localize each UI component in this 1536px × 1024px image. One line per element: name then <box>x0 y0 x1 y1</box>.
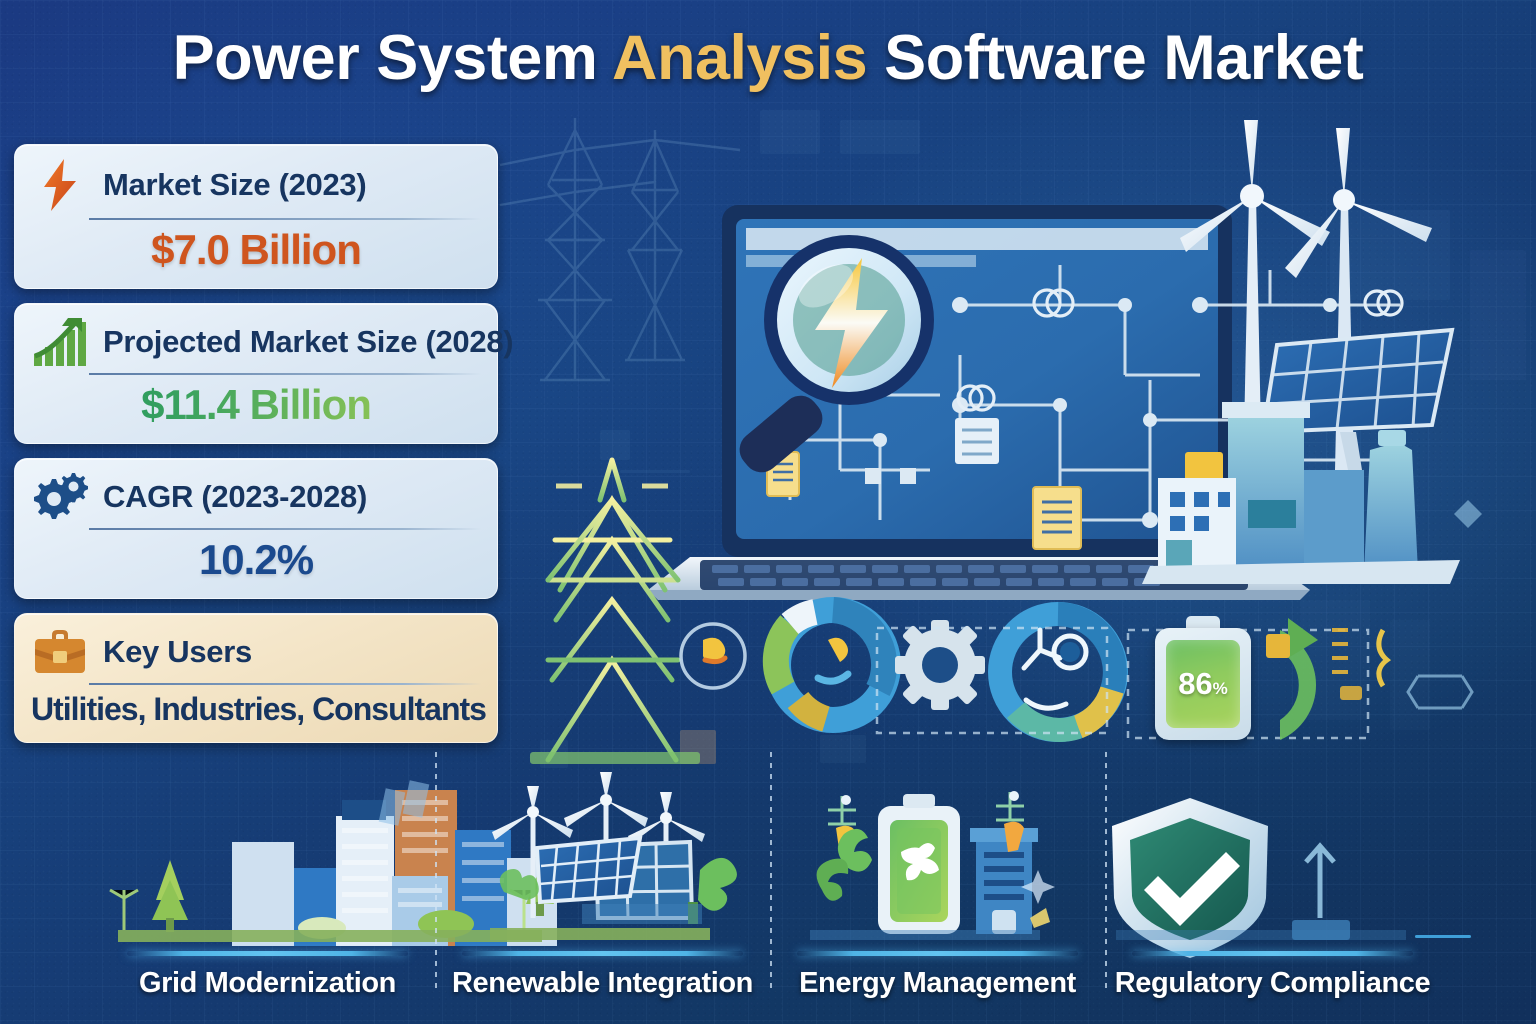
stat-card-value: Utilities, Industries, Consultants <box>31 689 481 728</box>
category-illustration <box>435 770 770 922</box>
battery-badge-unit: % <box>1213 679 1228 698</box>
battery-badge-value: 86 <box>1178 666 1212 701</box>
stat-card-label: Key Users <box>103 634 252 670</box>
growth-chart-icon <box>31 316 89 368</box>
stat-card-market-size-2023: Market Size (2023) $7.0 Billion <box>14 144 498 289</box>
stat-card-key-users: Key Users Utilities, Industries, Consult… <box>14 613 498 743</box>
title-part-2: Software Market <box>867 23 1363 93</box>
category-label: Renewable Integration <box>435 967 770 1000</box>
stat-card-value: 10.2% <box>31 534 481 584</box>
stat-card-header: Market Size (2023) <box>31 157 481 213</box>
battery-badge-fill: 86% <box>1166 640 1240 728</box>
stat-card-header: Projected Market Size (2028) <box>31 316 481 368</box>
category-illustration <box>770 770 1105 922</box>
card-divider <box>89 683 481 685</box>
stat-card-projected-market-size-2028: Projected Market Size (2028) $11.4 Billi… <box>14 303 498 444</box>
card-divider <box>89 528 481 530</box>
category-underline <box>1132 951 1413 956</box>
category-illustration <box>100 770 435 922</box>
category-underline <box>462 951 743 956</box>
title-highlight: Analysis <box>612 23 867 93</box>
card-divider <box>89 218 481 220</box>
stat-card-header: Key Users <box>31 626 481 678</box>
stat-card-label: Market Size (2023) <box>103 167 366 203</box>
title-part-1: Power System <box>173 23 612 93</box>
stat-card-list: Market Size (2023) $7.0 Billion <box>14 144 498 757</box>
category-energy-management[interactable]: Energy Management <box>770 770 1105 1000</box>
stat-card-value: $11.4 Billion <box>31 379 481 429</box>
category-strip: Grid Modernization Renewable Integration… <box>100 770 1440 1000</box>
stat-card-cagr: CAGR (2023-2028) 10.2% <box>14 458 498 599</box>
category-label: Regulatory Compliance <box>1105 967 1440 1000</box>
category-label: Grid Modernization <box>100 967 435 1000</box>
page-title: Power System Analysis Software Market <box>0 22 1536 94</box>
category-illustration <box>1105 770 1440 922</box>
card-divider <box>89 373 481 375</box>
category-grid-modernization[interactable]: Grid Modernization <box>100 770 435 1000</box>
stat-card-label: Projected Market Size (2028) <box>103 324 513 360</box>
briefcase-icon <box>31 627 89 677</box>
category-underline <box>127 951 408 956</box>
category-regulatory-compliance[interactable]: Regulatory Compliance <box>1105 770 1440 1000</box>
category-renewable-integration[interactable]: Renewable Integration <box>435 770 770 1000</box>
stat-card-value: $7.0 Billion <box>31 224 481 274</box>
stat-card-label: CAGR (2023-2028) <box>103 479 367 515</box>
category-underline <box>797 951 1078 956</box>
battery-badge-text: 86% <box>1178 666 1228 702</box>
category-label: Energy Management <box>770 967 1105 1000</box>
battery-percent-badge: 86% <box>1155 628 1251 740</box>
lightning-bolt-icon <box>31 157 89 213</box>
stat-card-header: CAGR (2023-2028) <box>31 471 481 523</box>
gears-icon <box>31 471 89 523</box>
